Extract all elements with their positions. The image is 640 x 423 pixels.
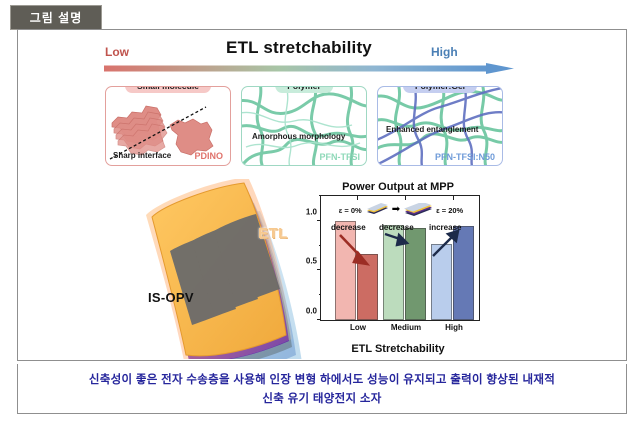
y-tick-label: 0.5 xyxy=(306,257,317,266)
panel-pill-label: Polymer:Gel xyxy=(403,86,477,93)
trend-arrows xyxy=(321,196,481,322)
etl-layer-label: ETL xyxy=(258,225,288,242)
panel-material-label: PFN-TFSI:N50 xyxy=(435,152,495,162)
power-output-chart: Power Output at MPP ε = 0% ➡ xyxy=(298,181,498,361)
device-name-label: IS-OPV xyxy=(148,290,194,305)
panel-material-label: PFN-TFSI xyxy=(320,152,361,162)
figure-page: 그림 설명 Low ETL stretchability High xyxy=(0,0,640,423)
chart-plot-area: ε = 0% ➡ xyxy=(320,195,480,321)
x-tick-label-medium: Medium xyxy=(391,323,421,332)
concept-panel-polymer: Polymer Amorphous morphology PFN-TFSI xyxy=(241,86,367,166)
x-tick-label-high: High xyxy=(445,323,463,332)
y-tick-label: 0.0 xyxy=(306,307,317,316)
scale-high-label: High xyxy=(431,45,458,59)
figure-caption: 신축성이 좋은 전자 수송층을 사용해 인장 변형 하에서도 성능이 유지되고 … xyxy=(17,364,627,414)
y-tick-label: 1.0 xyxy=(306,207,317,216)
panel-material-label: PDINO xyxy=(194,151,223,161)
x-tick-label-low: Low xyxy=(350,323,366,332)
caption-line-1: 신축성이 좋은 전자 수송층을 사용해 인장 변형 하에서도 성능이 유지되고 … xyxy=(89,371,555,387)
section-tag: 그림 설명 xyxy=(10,5,102,30)
concept-panel-small-molecule: Small molecule Sharp interface PDINO xyxy=(105,86,231,166)
is-opv-device-illustration xyxy=(96,179,311,359)
caption-line-2: 신축 유기 태양전지 소자 xyxy=(262,390,381,406)
concept-panel-polymer-gel: Polymer:Gel Enhanced entanglement PFN-TF… xyxy=(377,86,503,166)
section-tag-label: 그림 설명 xyxy=(30,9,83,26)
panel-pill-label: Small molecule xyxy=(125,86,211,93)
panel-pill-label: Polymer xyxy=(275,86,333,93)
panel-note-label: Amorphous morphology xyxy=(252,132,345,141)
panel-note-label: Enhanced entanglement xyxy=(386,125,478,134)
figure-title: ETL stretchability xyxy=(189,38,409,58)
chart-title: Power Output at MPP xyxy=(298,181,498,193)
figure-frame: Low ETL stretchability High xyxy=(17,29,627,361)
chart-x-axis-title: ETL Stretchability xyxy=(298,343,498,355)
scale-low-label: Low xyxy=(105,45,129,59)
stretchability-gradient-arrow xyxy=(104,63,514,74)
panel-note-label: Sharp interface xyxy=(113,151,171,160)
